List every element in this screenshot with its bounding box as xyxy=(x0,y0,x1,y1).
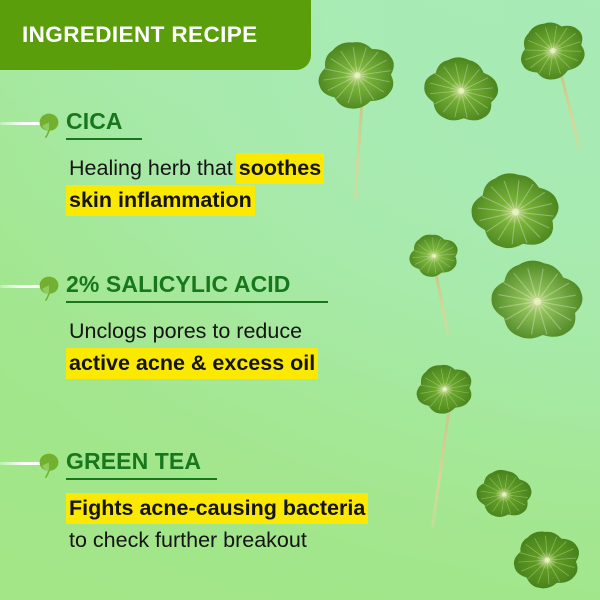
plain-text: Unclogs pores to reduce xyxy=(66,316,305,347)
ingredient-description: Fights acne-causing bacteriato check fur… xyxy=(66,492,368,556)
ingredient-heading: CICA xyxy=(66,108,123,134)
leaf-icon xyxy=(38,275,60,301)
leaf-blade xyxy=(415,47,508,135)
description-line: to check further breakout xyxy=(66,524,368,556)
leaf-lower-right-a xyxy=(472,464,537,525)
leaf-blade xyxy=(482,250,592,354)
ingredient-description: Healing herb that soothesskin inflammati… xyxy=(66,152,324,216)
leaf-icon xyxy=(38,112,60,138)
leaf-blade xyxy=(311,32,403,118)
highlighted-text: Fights acne-causing bacteria xyxy=(66,493,368,524)
leaf-stem xyxy=(435,274,449,335)
leaf-stem xyxy=(560,74,581,150)
highlighted-text: active acne & excess oil xyxy=(66,348,318,379)
leaf-stem xyxy=(431,410,450,529)
description-line: Healing herb that soothes xyxy=(66,152,324,184)
leaf-mid-small xyxy=(406,230,462,282)
highlighted-text: skin inflammation xyxy=(66,185,255,216)
description-line: Fights acne-causing bacteria xyxy=(66,492,368,524)
leaf-blade xyxy=(510,9,596,92)
heading-underline xyxy=(66,301,328,303)
description-line: skin inflammation xyxy=(66,184,324,216)
poster-canvas: INGREDIENT RECIPE CICAHealing herb that … xyxy=(0,0,600,600)
leaf-blade xyxy=(472,464,537,525)
leaf-top-mid xyxy=(415,47,508,135)
description-line: active acne & excess oil xyxy=(66,347,318,379)
plain-text: to check further breakout xyxy=(66,525,310,556)
leaf-mid-right-large xyxy=(465,165,565,259)
leaf-blade xyxy=(465,165,565,259)
leaf-icon xyxy=(38,452,60,478)
leaf-stem xyxy=(353,104,362,200)
ingredient-heading: 2% SALICYLIC ACID xyxy=(66,271,290,297)
leaf-blade xyxy=(410,357,479,422)
leaf-lower-left xyxy=(410,357,479,422)
page-title: INGREDIENT RECIPE xyxy=(0,22,258,48)
leaf-top-right xyxy=(510,9,596,92)
header-banner: INGREDIENT RECIPE xyxy=(0,0,311,70)
highlighted-text: soothes xyxy=(236,153,324,184)
heading-underline xyxy=(66,478,217,480)
ingredient-description: Unclogs pores to reduceactive acne & exc… xyxy=(66,315,318,379)
leaf-mid-right-pale xyxy=(482,250,592,354)
leaf-lower-right-b xyxy=(510,526,584,595)
heading-underline xyxy=(66,138,142,140)
leaf-blade xyxy=(406,230,462,282)
ingredient-heading: GREEN TEA xyxy=(66,448,201,474)
leaf-top-left-cluster xyxy=(311,32,403,118)
plain-text: Healing herb that xyxy=(66,153,236,184)
leaf-blade xyxy=(510,526,584,595)
description-line: Unclogs pores to reduce xyxy=(66,315,318,347)
